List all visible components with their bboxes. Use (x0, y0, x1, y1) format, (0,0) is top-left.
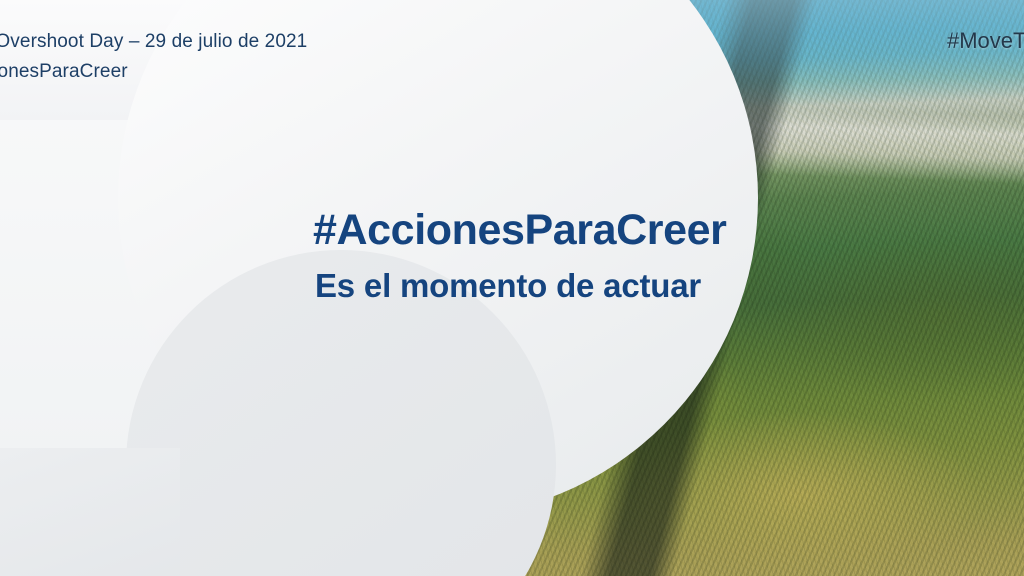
page-title: #AccionesParaCreer (313, 206, 727, 254)
hashtag-move-the-date: #MoveTh (947, 26, 1024, 56)
kicker-line-2: ccionesParaCreer (0, 57, 394, 87)
campaign-banner: th Overshoot Day – 29 de julio de 2021 c… (0, 0, 1024, 576)
kicker-line-1: th Overshoot Day – 29 de julio de 2021 (0, 31, 307, 52)
mask-bottom-left-panel (0, 448, 180, 576)
page-subtitle: Es el momento de actuar (315, 267, 701, 305)
kicker-block: th Overshoot Day – 29 de julio de 2021 c… (0, 27, 394, 87)
